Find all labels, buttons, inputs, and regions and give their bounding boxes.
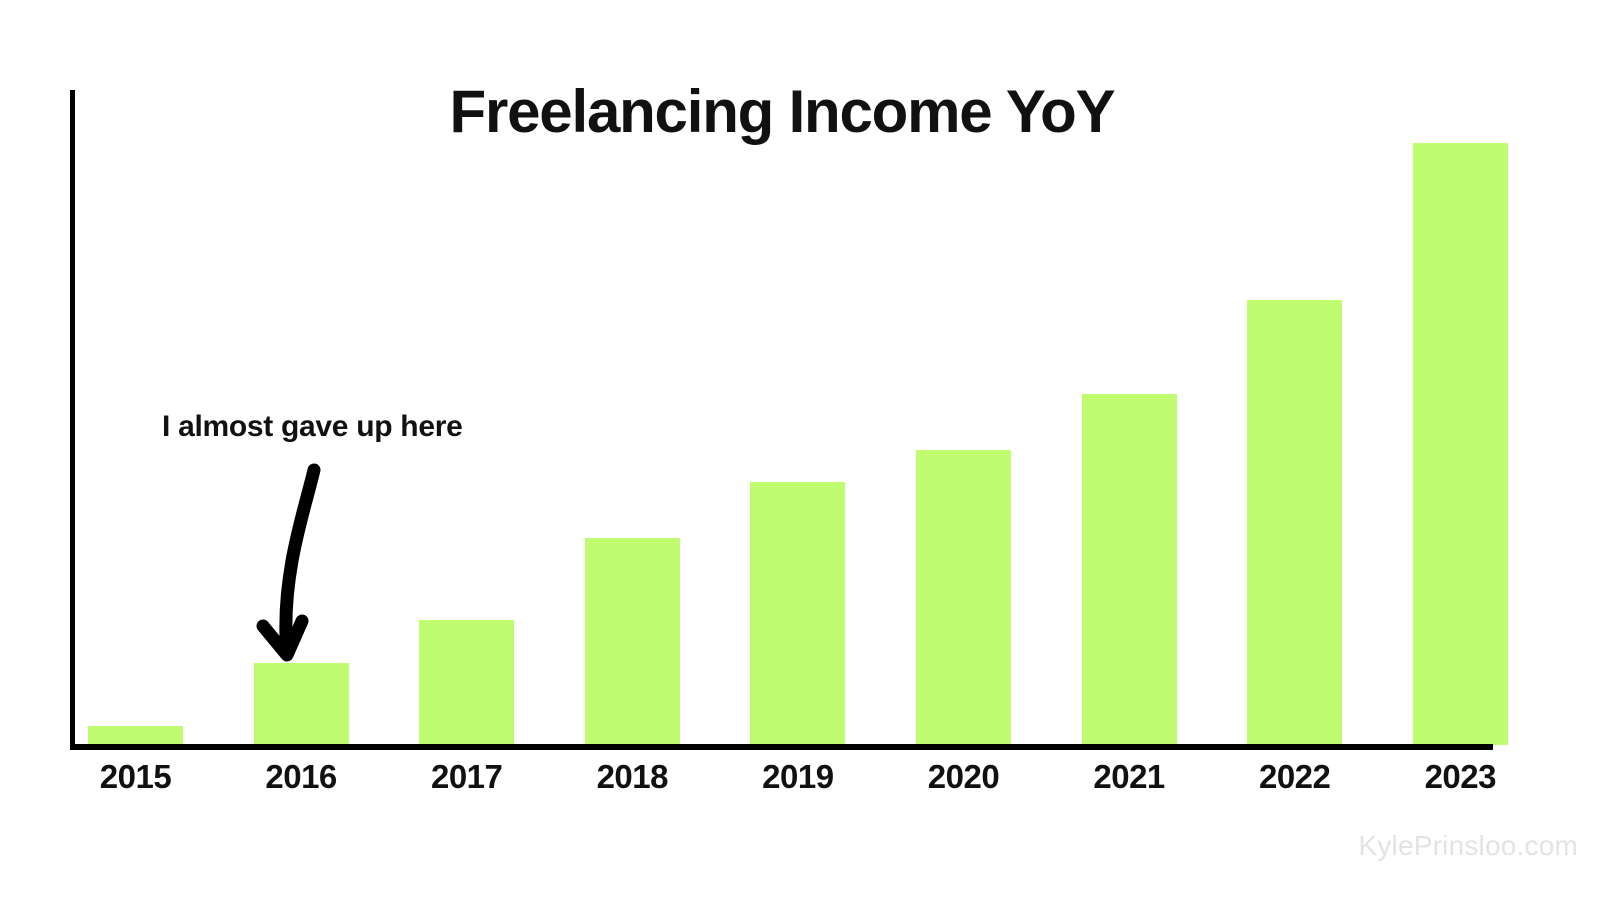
x-tick-label-2020: 2020 (881, 760, 1046, 793)
y-axis-line (70, 90, 75, 748)
bar-2019 (750, 482, 845, 745)
bar-2020 (916, 450, 1011, 745)
x-tick-label-2016: 2016 (219, 760, 384, 793)
x-tick-label-2022: 2022 (1212, 760, 1377, 793)
x-tick-label-2023: 2023 (1378, 760, 1543, 793)
bar-2021 (1082, 394, 1177, 745)
bar-2023 (1413, 143, 1508, 745)
chart-canvas: Freelancing Income YoY 20152016201720182… (0, 0, 1600, 900)
annotation-label: I almost gave up here (162, 412, 462, 442)
x-tick-label-2018: 2018 (550, 760, 715, 793)
watermark-text: KylePrinsloo.com (1358, 832, 1578, 860)
x-tick-label-2019: 2019 (715, 760, 880, 793)
bar-2018 (585, 538, 680, 745)
bar-2022 (1247, 300, 1342, 745)
bar-2015 (88, 726, 183, 745)
x-tick-label-2021: 2021 (1047, 760, 1212, 793)
curved-arrow-icon (240, 450, 360, 670)
x-tick-label-2017: 2017 (384, 760, 549, 793)
x-axis-line (70, 744, 1493, 750)
bar-2016 (254, 663, 349, 745)
x-tick-label-2015: 2015 (53, 760, 218, 793)
bar-2017 (419, 620, 514, 745)
